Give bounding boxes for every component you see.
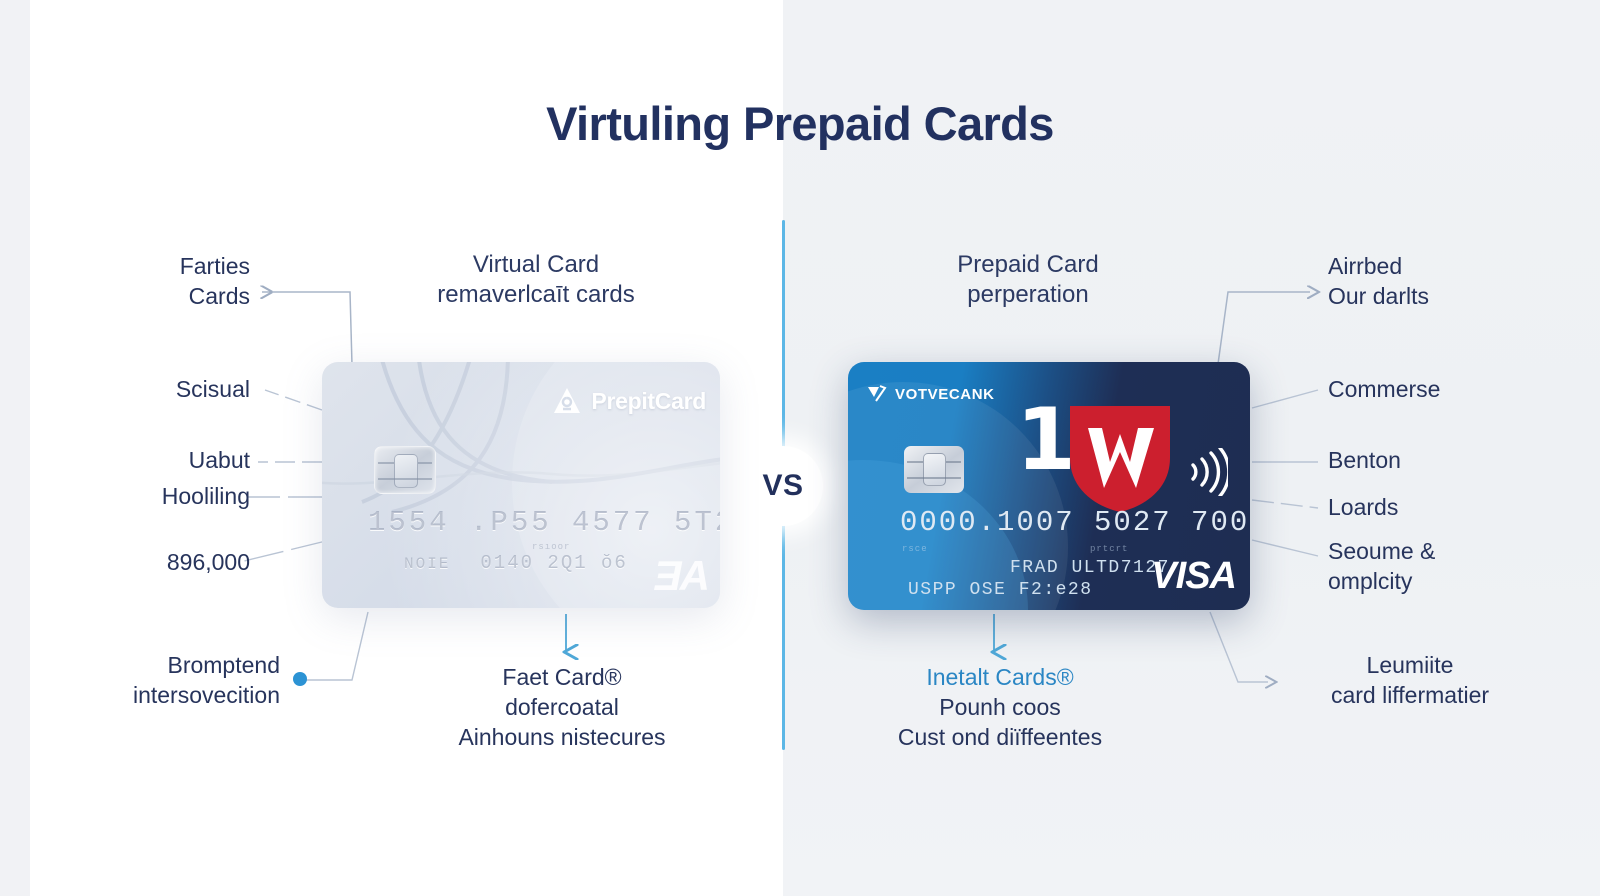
right-card-number: 0000.1007 5027 7000 <box>900 506 1250 539</box>
right-caption-line2: Pounh coos <box>820 692 1180 722</box>
infographic-canvas: Virtuling Prepaid Cards VS Virtual Card … <box>0 0 1600 896</box>
right-card-holder: FRAD ULTD7127 <box>1010 558 1170 578</box>
right-heading-line1: Prepaid Card <box>858 250 1198 280</box>
votvecank-logo-text: VOTVECANK <box>895 386 995 403</box>
left-card-network-logo: ƎA <box>654 552 708 600</box>
left-card-chip-icon <box>374 446 436 494</box>
left-caption: Faet Card® dofercoatal Ainhouns nistecur… <box>382 662 742 752</box>
prepitcard-logo: PrepitCard <box>552 386 706 416</box>
emblem-digit: 1 <box>1016 400 1070 480</box>
left-caption-line2: dofercoatal <box>382 692 742 722</box>
shield-icon <box>1064 400 1176 516</box>
visa-logo: VISA <box>1151 555 1236 598</box>
contactless-icon <box>1186 448 1228 496</box>
label-leumiite: Leumiite card liffermatier <box>1280 650 1540 710</box>
label-count: 896,000 <box>60 547 250 577</box>
card-emblem: 1 <box>1016 400 1176 516</box>
label-scisual: Scisual <box>60 374 250 404</box>
label-uabut: Uabut <box>60 445 250 475</box>
label-seoume: Seoume & omplcity <box>1328 536 1578 596</box>
label-airrbed: Airrbed Our darlts <box>1328 251 1578 311</box>
label-farties-cards: Farties Cards <box>60 251 250 311</box>
virtual-card-graphic: PrepitCard 1554 .P55 4577 5T26 rsıoor NO… <box>322 362 720 608</box>
label-seoume-line2: omplcity <box>1328 566 1578 596</box>
left-card-valid-row: NOIE0140 2Q1 ŏ6 <box>404 552 628 574</box>
votvecank-logo: VOTVECANK <box>866 384 995 404</box>
left-card-tiny-mark: rsıoor <box>532 542 570 552</box>
right-card-tiny-left: rsce <box>902 544 928 554</box>
label-benton: Benton <box>1328 445 1578 475</box>
label-commerse: Commerse <box>1328 374 1578 404</box>
label-leumiite-line2: card liffermatier <box>1280 680 1540 710</box>
right-card-expiry: USPP OSE F2:e28 <box>908 580 1093 600</box>
right-heading-line2: perperation <box>858 280 1198 310</box>
left-card-valid-label: NOIE <box>404 555 450 573</box>
label-bromptend-line2: intersovecition <box>60 680 280 710</box>
label-farties-cards-line2: Cards <box>60 281 250 311</box>
left-card-valid-value: 0140 2Q1 ŏ6 <box>480 552 627 574</box>
label-bromptend-line1: Bromptend <box>60 650 280 680</box>
left-card-heading: Virtual Card remaverlcaīt cards <box>366 250 706 310</box>
label-hooliling: Hooliling <box>60 481 250 511</box>
right-card-tiny-right: prtcrt <box>1090 544 1128 554</box>
prepitcard-triangle-icon <box>552 386 582 416</box>
label-bromptend: Bromptend intersovecition <box>60 650 280 710</box>
label-seoume-line1: Seoume & <box>1328 536 1578 566</box>
left-heading-line2: remaverlcaīt cards <box>366 280 706 310</box>
left-card-number: 1554 .P55 4577 5T26 <box>368 506 720 539</box>
prepaid-card-graphic: VOTVECANK 1 0000.1007 5027 7000 rsce prt… <box>848 362 1250 610</box>
label-airrbed-line1: Airrbed <box>1328 251 1578 281</box>
label-farties-cards-line1: Farties <box>60 251 250 281</box>
right-card-chip-icon <box>904 446 964 493</box>
label-loards: Loards <box>1328 492 1578 522</box>
label-airrbed-line2: Our darlts <box>1328 281 1578 311</box>
left-caption-line3: Ainhouns nistecures <box>382 722 742 752</box>
vs-badge: VS <box>743 446 823 526</box>
right-caption-line3: Cust ond diïffeentes <box>820 722 1180 752</box>
right-card-heading: Prepaid Card perperation <box>858 250 1198 310</box>
right-caption-lead: Inetalt Cards® <box>820 662 1180 692</box>
prepitcard-logo-text: PrepitCard <box>591 388 706 415</box>
left-caption-lead: Faet Card® <box>382 662 742 692</box>
page-title: Virtuling Prepaid Cards <box>0 96 1600 151</box>
label-leumiite-line1: Leumiite <box>1280 650 1540 680</box>
left-heading-line1: Virtual Card <box>366 250 706 280</box>
right-caption: Inetalt Cards® Pounh coos Cust ond diïff… <box>820 662 1180 752</box>
votvecank-bird-icon <box>866 384 888 404</box>
